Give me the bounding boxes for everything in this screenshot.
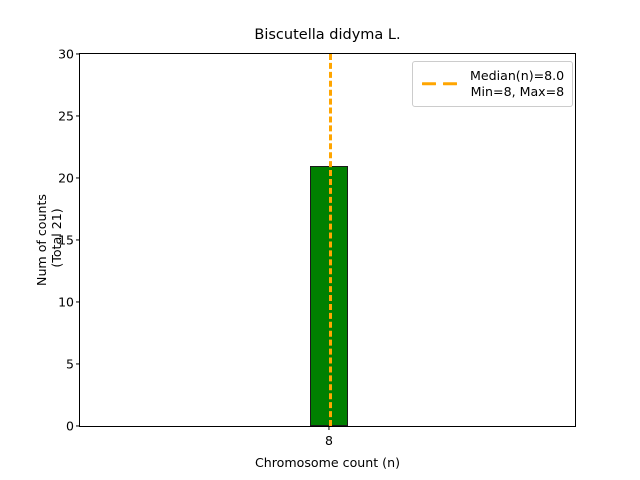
median-line — [329, 54, 332, 426]
ytick-mark-5 — [76, 363, 80, 364]
xtick-label-8: 8 — [325, 433, 333, 448]
legend: Median(n)=8.0 Min=8, Max=8 — [412, 61, 573, 107]
chart-figure: Biscutella didyma L. 0 5 10 15 20 25 30 … — [0, 0, 640, 480]
legend-entry-median: Median(n)=8.0 Min=8, Max=8 — [421, 68, 564, 100]
x-axis-label: Chromosome count (n) — [79, 455, 576, 470]
dashed-line-icon — [421, 78, 461, 90]
xtick-mark-8 — [328, 426, 329, 430]
y-axis-label: Num of counts (Total 21) — [34, 53, 64, 427]
ytick-mark-15 — [76, 239, 80, 240]
y-axis-label-wrapper: Num of counts (Total 21) — [34, 53, 68, 427]
ytick-mark-20 — [76, 177, 80, 178]
ytick-mark-10 — [76, 301, 80, 302]
plot-area: 0 5 10 15 20 25 30 8 Median(n)=8.0 Min — [79, 53, 576, 427]
plot-clip — [80, 54, 575, 426]
legend-label-median: Median(n)=8.0 Min=8, Max=8 — [470, 68, 564, 100]
chart-title: Biscutella didyma L. — [79, 27, 576, 43]
legend-label-median-line2: Min=8, Max=8 — [470, 84, 564, 100]
legend-label-median-line1: Median(n)=8.0 — [470, 68, 564, 83]
ytick-mark-0 — [76, 425, 80, 426]
ytick-mark-25 — [76, 115, 80, 116]
ytick-mark-30 — [76, 53, 80, 54]
